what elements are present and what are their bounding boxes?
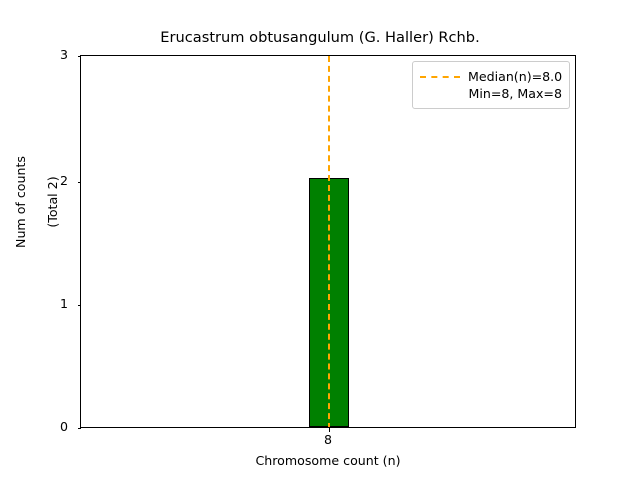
ytick-mark-2 (78, 182, 82, 183)
xtick-label-8: 8 (288, 434, 368, 447)
legend-label-median: Median(n)=8.0 (468, 69, 562, 84)
ytick-mark-1 (78, 305, 82, 306)
chart-title: Erucastrum obtusangulum (G. Haller) Rchb… (0, 29, 640, 47)
ytick-label-0: 0 (8, 421, 68, 434)
legend-dash-swatch (420, 76, 460, 78)
ytick-mark-3 (78, 56, 82, 57)
plot-area (81, 56, 575, 427)
chart-figure: Erucastrum obtusangulum (G. Haller) Rchb… (0, 0, 640, 480)
ytick-mark-0 (78, 428, 82, 429)
legend-entry-median: Median(n)=8.0 (420, 68, 562, 85)
plot-axes: Median(n)=8.0 Min=8, Max=8 (80, 55, 576, 428)
legend-entry-minmax: Min=8, Max=8 (420, 85, 562, 102)
y-axis-label-line2: (Total 2) (45, 62, 61, 342)
y-axis-label-line1: Num of counts (13, 62, 29, 342)
ytick-label-3: 3 (8, 49, 68, 62)
chart-legend: Median(n)=8.0 Min=8, Max=8 (412, 61, 570, 109)
median-line (328, 56, 330, 427)
legend-label-minmax: Min=8, Max=8 (468, 86, 562, 101)
y-axis-label: Num of counts (Total 2) (0, 62, 77, 342)
xtick-mark-8 (329, 428, 330, 432)
x-axis-label: Chromosome count (n) (80, 453, 576, 468)
